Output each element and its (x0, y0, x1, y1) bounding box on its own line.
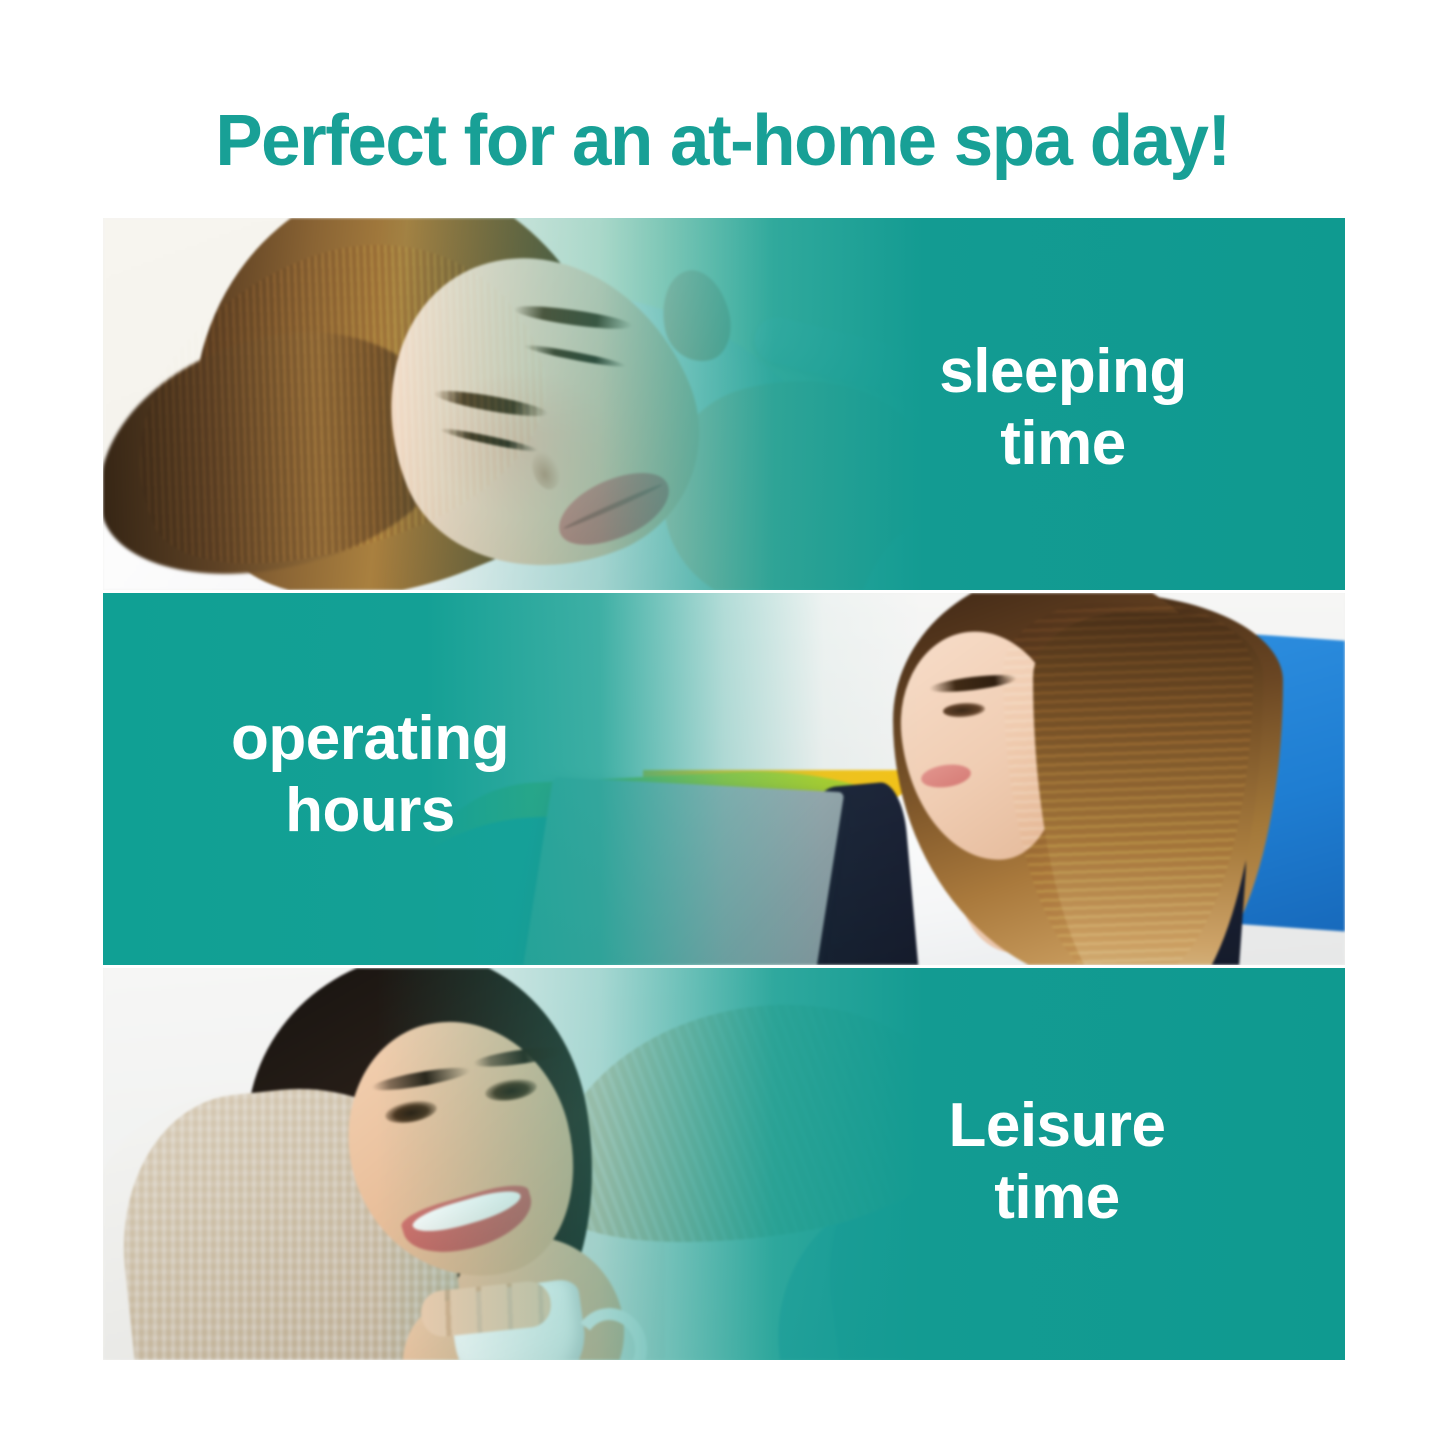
poster-canvas: Perfect for an at-home spa day! (0, 0, 1445, 1445)
page-title: Perfect for an at-home spa day! (11, 99, 1434, 183)
panel-stack: sleeping time (103, 218, 1345, 1360)
panel-label-leisure-time: Leisure time (847, 1090, 1267, 1234)
panel-sleeping-time: sleeping time (103, 218, 1345, 590)
panel-label-sleeping-time: sleeping time (853, 336, 1273, 480)
panel-operating-hours: operating hours (103, 593, 1345, 965)
panel-leisure-time: Leisure time (103, 968, 1345, 1360)
panel-label-operating-hours: operating hours (155, 703, 585, 847)
